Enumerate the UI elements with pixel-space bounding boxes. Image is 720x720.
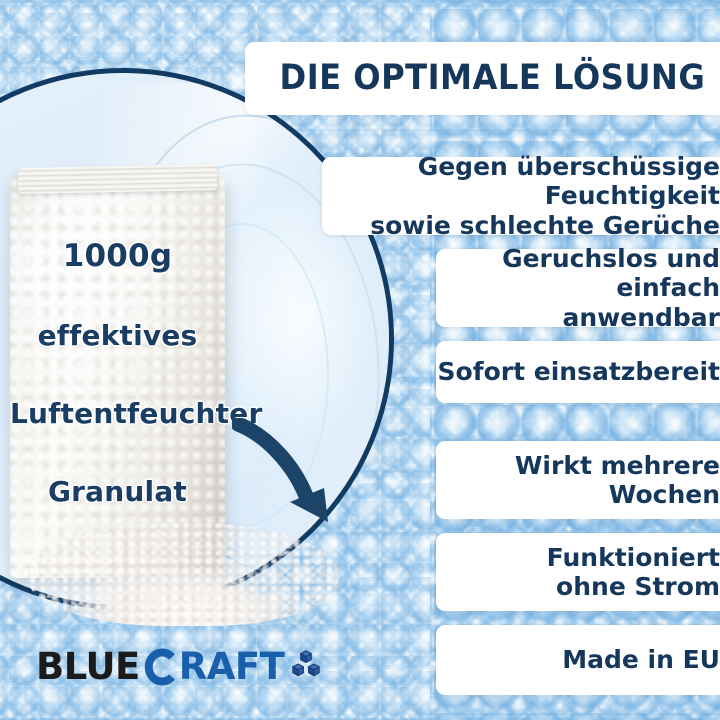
- logo-text-blue: BLUE: [36, 645, 140, 688]
- feature-item-1: Gegen überschüssige Feuchtigkeitsowie sc…: [322, 157, 720, 235]
- bag-line-4: Granulat: [10, 475, 225, 508]
- feature-item-2: Geruchslos und einfachanwendbar: [436, 249, 720, 327]
- brand-logo: BLUE RAFT: [36, 645, 321, 688]
- logo-text-raft: RAFT: [179, 645, 285, 688]
- feature-item-6: Made in EU: [436, 625, 720, 695]
- feature-item-3: Sofort einsatzbereit: [436, 341, 720, 403]
- bag-line-2: effektives: [10, 319, 225, 352]
- page-title: DIE OPTIMALE LÖSUNG: [245, 42, 720, 115]
- bag-weight: 1000g: [10, 238, 225, 274]
- bag-label: 1000g effektives Luftentfeuchter Granula…: [10, 238, 225, 508]
- curved-down-arrow-icon: [232, 418, 350, 536]
- feature-item-5: Funktioniertohne Strom: [436, 533, 720, 611]
- bag-seal: [18, 164, 217, 194]
- three-cubes-icon: [291, 650, 321, 683]
- feature-item-4: Wirkt mehrereWochen: [436, 441, 720, 519]
- page-title-text: DIE OPTIMALE LÖSUNG: [280, 58, 706, 99]
- product-infographic: 1000g effektives Luftentfeuchter Granula…: [0, 0, 720, 720]
- granulate-pile-image: [28, 522, 338, 626]
- logo-c-ring-icon: [142, 648, 178, 686]
- granulate-texture: [28, 522, 338, 626]
- bag-line-3: Luftentfeuchter: [10, 397, 225, 430]
- product-bag-image: 1000g effektives Luftentfeuchter Granula…: [10, 178, 225, 578]
